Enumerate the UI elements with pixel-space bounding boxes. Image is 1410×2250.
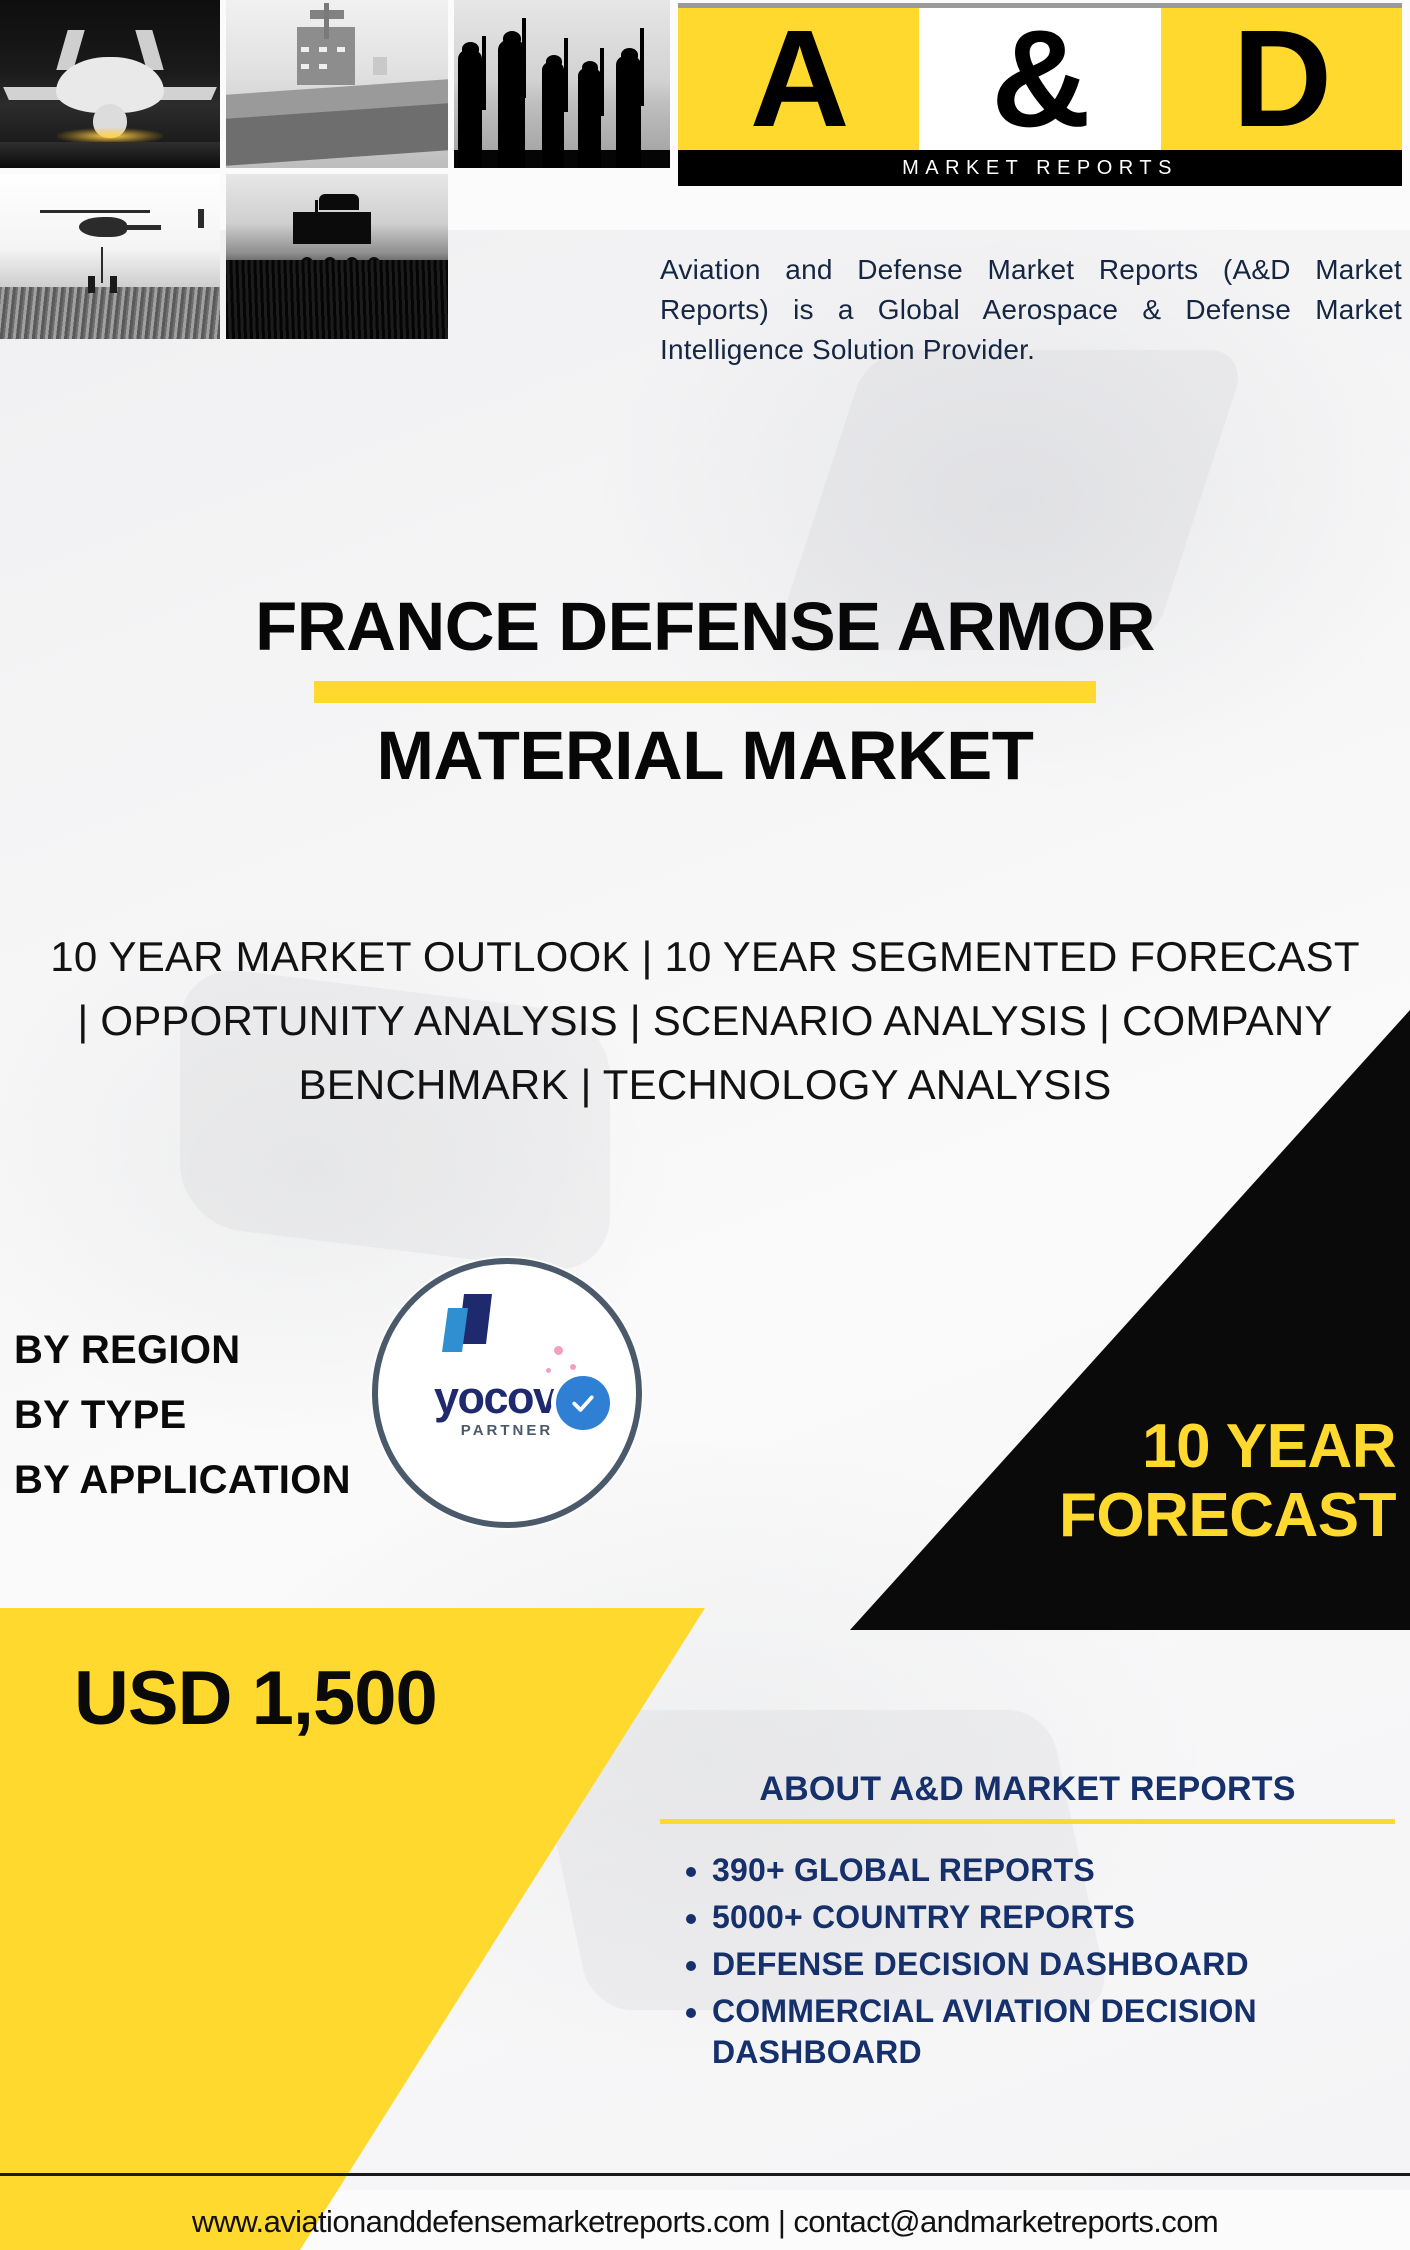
logo-cell-d: D <box>1161 8 1402 150</box>
segment-item-type: BY TYPE <box>14 1383 351 1448</box>
logo-cell-ampersand: & <box>919 8 1160 150</box>
about-heading: ABOUT A&D MARKET REPORTS <box>660 1770 1395 1809</box>
footer-divider <box>0 2173 1410 2176</box>
page-title: FRANCE DEFENSE ARMOR MATERIAL MARKET <box>0 588 1410 795</box>
logo-letter-d: D <box>1232 10 1330 148</box>
page-title-line-2: MATERIAL MARKET <box>0 717 1410 794</box>
soldiers-silhouette-photo <box>454 0 670 168</box>
logo-letter-a: A <box>750 10 848 148</box>
footer-contact: www.aviationanddefensemarketreports.com … <box>0 2204 1410 2240</box>
company-intro-paragraph: Aviation and Defense Market Reports (A&D… <box>660 250 1402 369</box>
price-value: USD 1,500 <box>74 1655 437 1742</box>
segment-item-region: BY REGION <box>14 1318 351 1383</box>
about-item-global-reports: 390+ GLOBAL REPORTS <box>712 1850 1395 1891</box>
verified-check-icon <box>556 1376 610 1430</box>
yocova-chevron-icon <box>434 1294 512 1356</box>
logo-letter-ampersand: & <box>991 10 1089 148</box>
about-item-defense-dashboard: DEFENSE DECISION DASHBOARD <box>712 1944 1395 1985</box>
title-yellow-rule <box>314 681 1096 703</box>
about-item-country-reports: 5000+ COUNTRY REPORTS <box>712 1897 1395 1938</box>
logo-tagline-bar: MARKET REPORTS <box>678 150 1402 186</box>
report-features-subtitle: 10 YEAR MARKET OUTLOOK | 10 YEAR SEGMENT… <box>40 925 1370 1116</box>
report-cover-poster: A & D MARKET REPORTS Aviation and Defens… <box>0 0 1410 2250</box>
page-title-line-1: FRANCE DEFENSE ARMOR <box>0 588 1410 665</box>
armored-vehicle-photo <box>226 174 448 339</box>
about-bullet-list: 390+ GLOBAL REPORTS 5000+ COUNTRY REPORT… <box>660 1850 1395 2073</box>
about-section: ABOUT A&D MARKET REPORTS 390+ GLOBAL REP… <box>660 1770 1395 2079</box>
yocova-partner-badge: yocova PARTNER <box>372 1258 642 1528</box>
fighter-jet-photo <box>0 0 220 168</box>
photo-strip-second <box>0 174 448 339</box>
segment-item-application: BY APPLICATION <box>14 1448 351 1513</box>
photo-strip-top <box>0 0 670 168</box>
forecast-line-1: 10 YEAR <box>876 1412 1396 1481</box>
and-market-reports-logo: A & D MARKET REPORTS <box>678 3 1402 173</box>
forecast-line-2: FORECAST <box>876 1481 1396 1550</box>
about-yellow-rule <box>660 1819 1395 1824</box>
segmentation-list: BY REGION BY TYPE BY APPLICATION <box>14 1318 351 1512</box>
logo-cell-a: A <box>678 8 919 150</box>
helicopter-photo <box>0 174 220 339</box>
about-item-commercial-dashboard: COMMERCIAL AVIATION DECISION DASHBOARD <box>712 1991 1395 2073</box>
aircraft-carrier-photo <box>226 0 448 168</box>
logo-tagline: MARKET REPORTS <box>902 157 1178 180</box>
forecast-callout: 10 YEAR FORECAST <box>876 1412 1396 1551</box>
